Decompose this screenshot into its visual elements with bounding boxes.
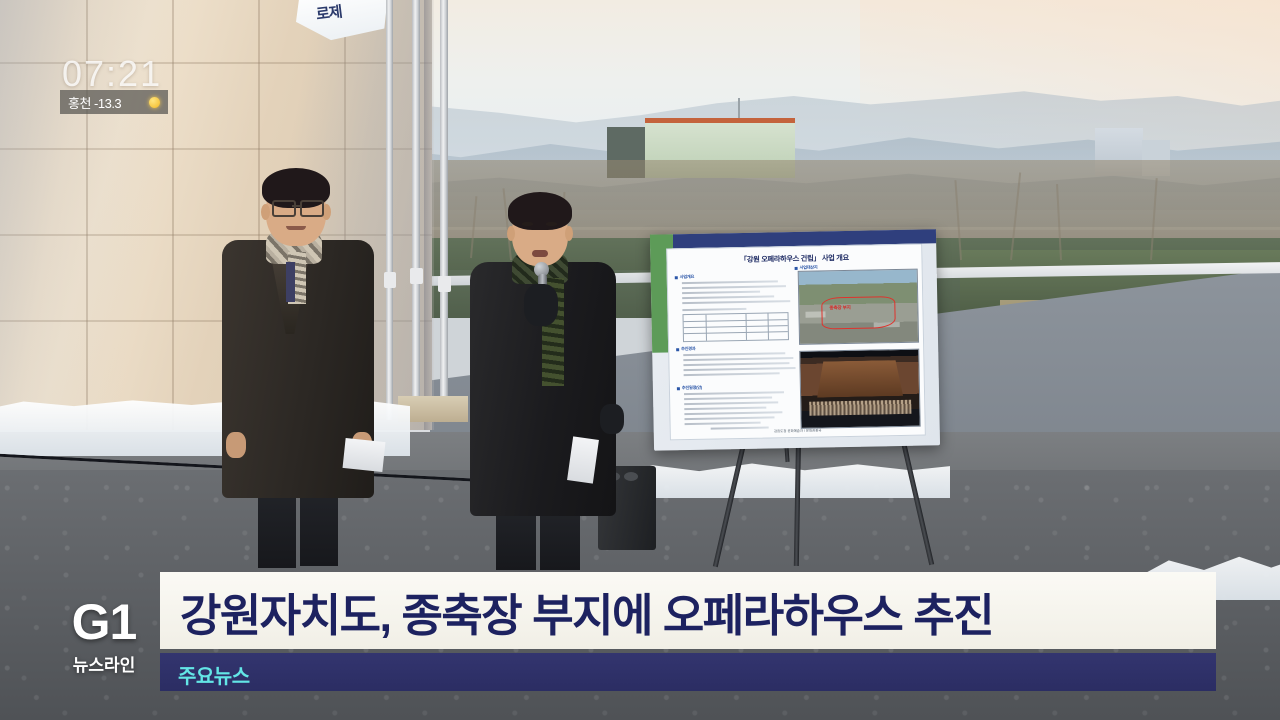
board-text-line [684,401,778,404]
board-section-heading: 추진일정(안) [682,385,702,391]
photo-site-label: 종축장 부지 [829,305,850,311]
board-text-line [684,416,774,419]
board-table [682,312,789,342]
banner-text: 로제 [315,1,343,25]
broadcast-clock: 07:21 [62,53,162,95]
person-left-glasses [300,200,324,217]
board-text-line [684,367,796,371]
person-right-ear [507,226,515,241]
board-photo-aerial: 종축장 부지 [798,269,919,345]
board-text-line [684,407,766,410]
pole-clamp [384,272,396,288]
channel-logo-mark: G1 [52,597,156,647]
person-left-hand [226,432,246,458]
flagpole [386,0,393,420]
board-content: 「강원 오페라하우스 건립」 사업 개요 사업개요 추진경과 [666,244,926,441]
board-text-line [684,391,784,395]
board-text-line [682,308,746,311]
board-text-line [682,280,778,283]
person-left-mouth [286,226,306,230]
weather-badge: 홍천 -13.3 [60,90,168,114]
person-right-glove [600,404,624,434]
flagpole [412,0,420,420]
board-text-line [682,291,760,294]
pole-clamp [410,268,423,284]
board-footer: 강원도청 문화예술과 / 문화관광국 [671,426,925,436]
board-text-line [684,411,782,414]
board-title: 「강원 오페라하우스 건립」 사업 개요 [667,252,921,267]
board-text-line [682,300,790,304]
person-left-necktie [286,262,295,302]
person-left-document [343,438,386,472]
board-text-line [683,352,785,356]
program-name: 뉴스라인 [52,651,156,676]
board-text-line [684,396,772,399]
presentation-board: 「강원 오페라하우스 건립」 사업 개요 사업개요 추진경과 [650,229,940,450]
broadcast-frame: 로제 「강원 오페라하우스 건립」 사업 개요 사업개요 [0,0,1280,720]
board-text-line [682,285,786,289]
person-left-glasses [272,200,296,217]
board-text-line [682,295,774,298]
sun-icon [149,97,160,108]
board-section-heading: 추진경과 [681,346,695,352]
person-left-glasses-bridge [292,205,300,207]
board-photo-theater [799,349,920,429]
person-right-eye [546,222,557,226]
pole-clamp [438,276,451,292]
theater-audience [809,400,911,416]
headline-text: 강원자치도, 종축장 부지에 오페라하우스 추진 [180,578,1200,644]
person-right-glove [524,284,558,326]
board-text-line [685,422,761,425]
wall-edge [424,0,434,430]
board-text-line [684,372,780,375]
board-text-line [683,357,793,361]
board-text-line [683,362,789,366]
person-left-ear [261,204,270,220]
category-label: 주요뉴스 [178,660,250,689]
channel-logo: G1 뉴스라인 [52,597,156,676]
photo-site-outline [821,296,896,329]
person-right-hair [508,192,572,230]
person-right-eye [522,222,533,226]
person-right-ear [565,226,573,241]
category-band [160,653,1216,691]
theater-stage [816,360,903,398]
board-section-heading: 사업개요 [680,274,694,280]
person-right-mouth [532,250,548,257]
flagpole [440,0,448,416]
weather-location-temp: 홍천 -13.3 [68,93,121,112]
